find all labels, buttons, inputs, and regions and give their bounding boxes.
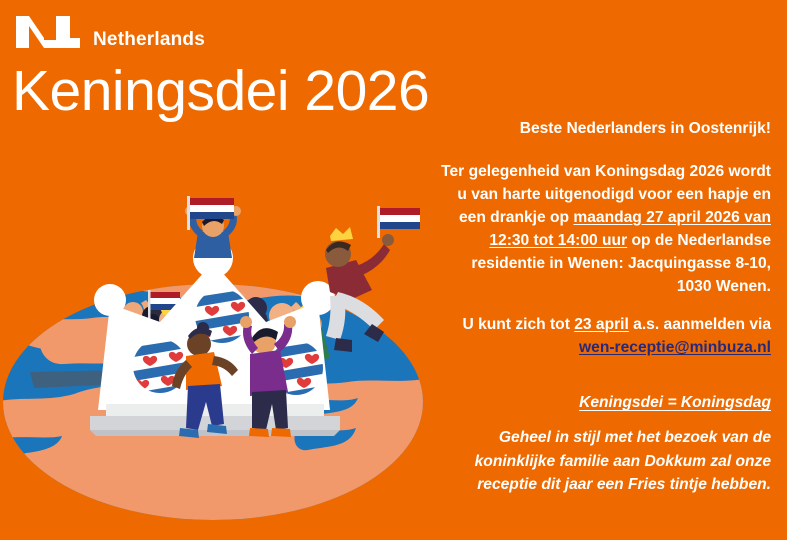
brand-lockup: Netherlands <box>14 14 205 54</box>
page-title: Keningsdei 2026 <box>12 60 429 123</box>
crown-on-globe-illustration <box>0 196 448 540</box>
person-right-maroon-with-crown-headband <box>325 206 420 352</box>
nl-government-logo-icon <box>14 14 82 54</box>
rsvp-email-link[interactable]: wen-receptie@minbuza.nl <box>579 339 771 356</box>
poster-canvas: Netherlands Keningsdei 2026 <box>0 0 787 540</box>
invitation-copy-block: Beste Nederlanders in Oostenrijk! Ter ge… <box>441 118 771 496</box>
closing-paragraph: Geheel in stijl met het bezoek van de ko… <box>441 426 771 496</box>
rsvp-mid: a.s. aanmelden via <box>629 316 771 333</box>
crown-left-orb <box>94 284 126 316</box>
dutch-flag-right <box>377 206 420 238</box>
crown-headband <box>330 227 353 241</box>
invitation-paragraph: Ter gelegenheid van Koningsdag 2026 word… <box>441 161 771 299</box>
rsvp-lead: U kunt zich tot <box>462 316 574 333</box>
tagline-keningsdei: Keningsdei = Koningsdag <box>441 394 771 412</box>
rsvp-deadline: 23 april <box>574 316 629 333</box>
rsvp-paragraph: U kunt zich tot 23 april a.s. aanmelden … <box>441 314 771 360</box>
person-top-blue <box>185 196 241 258</box>
salutation-line: Beste Nederlanders in Oostenrijk! <box>441 118 771 141</box>
hair-bun <box>197 322 209 334</box>
brand-wordmark: Netherlands <box>93 20 205 49</box>
